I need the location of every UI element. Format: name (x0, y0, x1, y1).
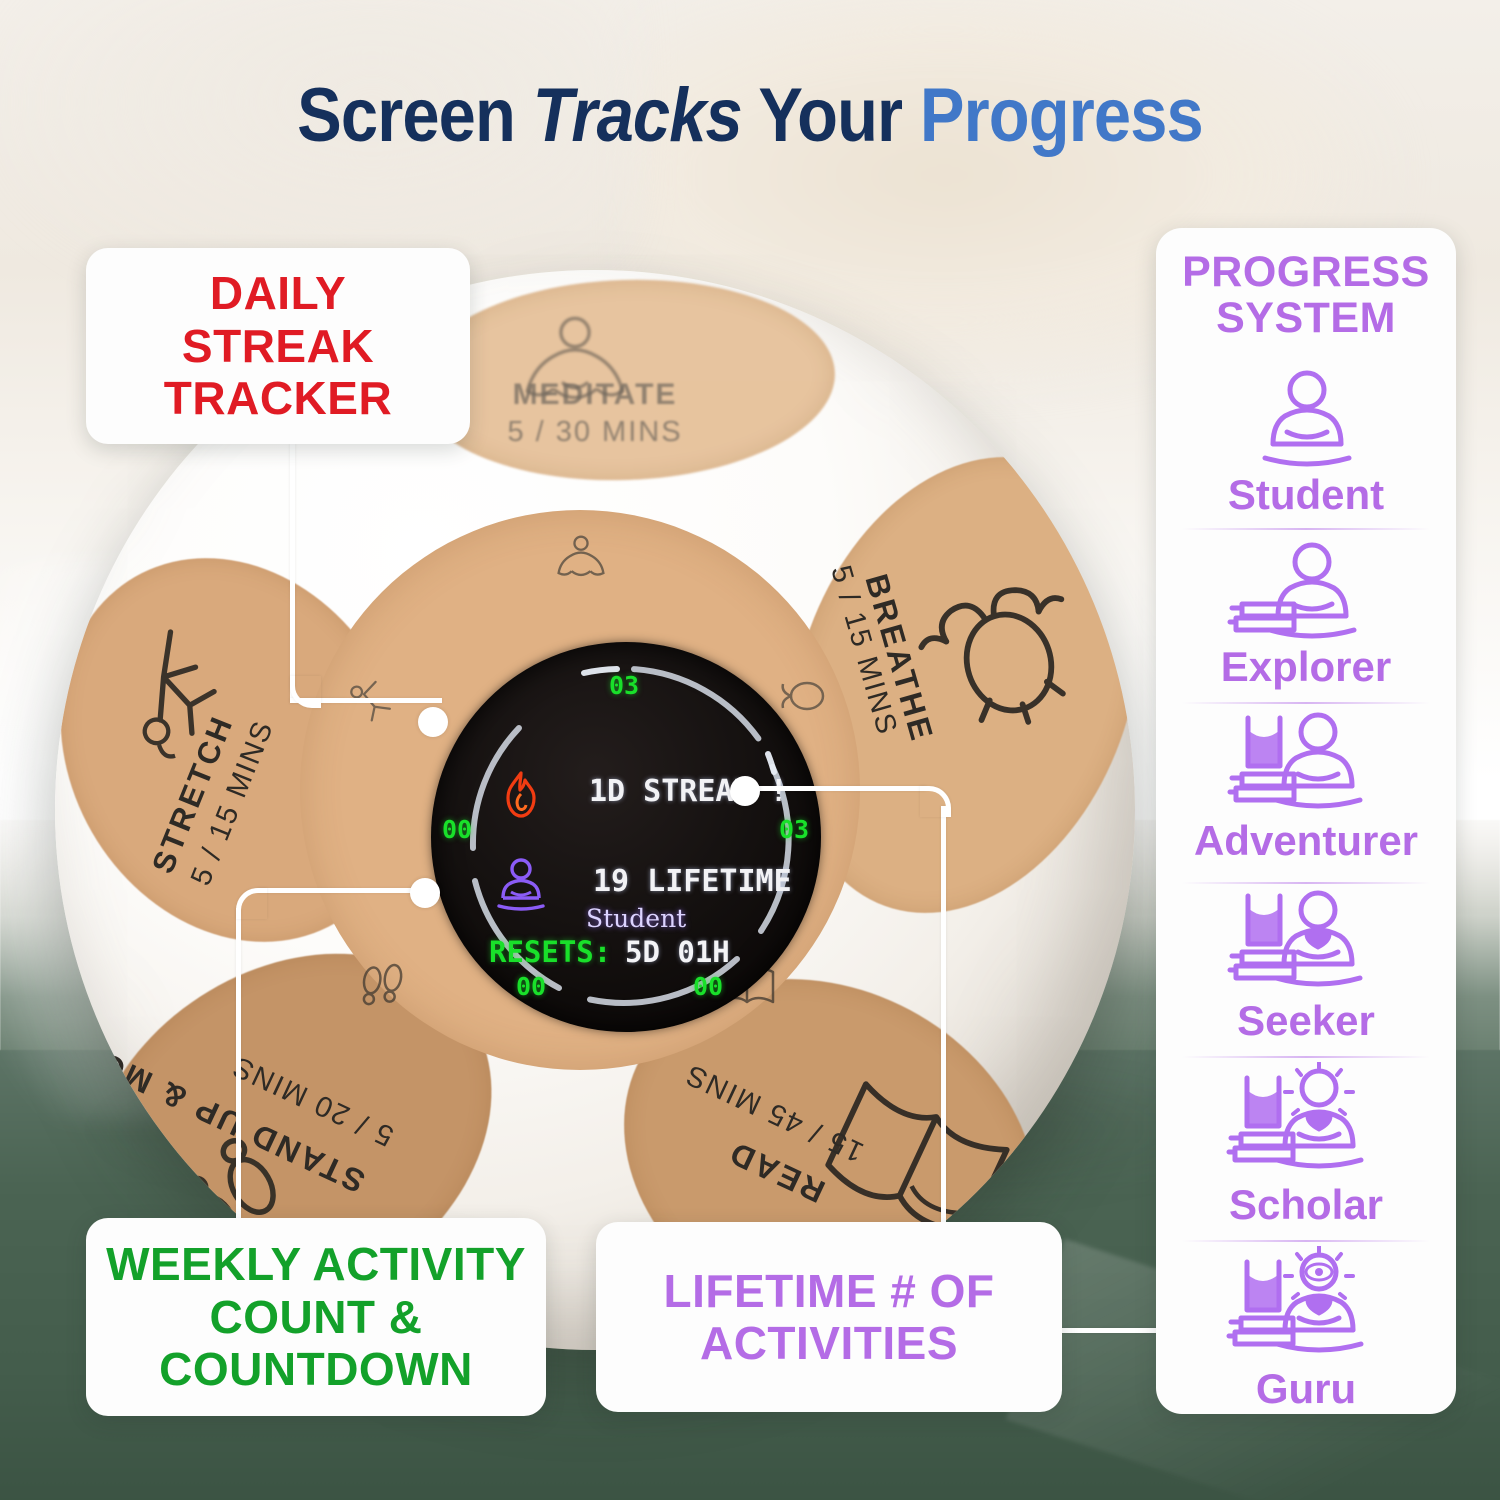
progress-system-title: PROGRESS SYSTEM (1156, 250, 1456, 341)
title-part-progress: Progress (920, 73, 1203, 158)
lifetime-text: 19 LIFETIME (593, 864, 792, 899)
progress-level-explorer[interactable]: Explorer (1156, 540, 1456, 688)
connector-weekly-dot (410, 878, 440, 908)
weekly-counter-top: 03 (609, 671, 639, 700)
progress-level-student[interactable]: Student (1156, 368, 1456, 516)
progress-level-scholar[interactable]: Scholar (1156, 1062, 1456, 1226)
callout-lifetime-activities[interactable]: LIFETIME # OF ACTIVITIES (596, 1222, 1062, 1412)
progress-level-scholar-label: Scholar (1156, 1184, 1456, 1226)
progress-level-adventurer-label: Adventurer (1156, 820, 1456, 862)
connector-lifetime-vertical (941, 806, 946, 1224)
resets-label: RESETS: (489, 935, 611, 969)
progress-level-seeker-label: Seeker (1156, 1000, 1456, 1042)
progress-system-title-line1: PROGRESS (1156, 250, 1456, 296)
connector-streak-dot (418, 707, 448, 737)
progress-level-seeker[interactable]: Seeker (1156, 890, 1456, 1042)
title-part-1: Screen (297, 73, 532, 158)
level-scholar-icon (1201, 1062, 1411, 1186)
connector-panel-horizontal (1060, 1328, 1160, 1333)
flame-icon (499, 770, 543, 820)
weekly-progress-arc (431, 642, 821, 1032)
page-title: Screen Tracks Your Progress (90, 72, 1410, 159)
weekly-counter-left: 00 (442, 815, 472, 844)
callout-daily-streak-label: DAILY STREAK TRACKER (164, 267, 392, 424)
progress-divider-4 (1182, 1056, 1430, 1058)
connector-streak-vertical (290, 443, 295, 703)
level-guru-icon (1201, 1246, 1411, 1370)
progress-divider-1 (1182, 528, 1430, 530)
weekly-counter-bottom-right: 00 (693, 972, 723, 1001)
meditating-person-icon (493, 858, 549, 916)
title-part-tracks: Tracks (533, 73, 742, 158)
level-student-icon (1231, 368, 1381, 476)
progress-divider-2 (1182, 702, 1430, 704)
progress-system-panel[interactable]: PROGRESS SYSTEM Student (1156, 228, 1456, 1414)
progress-level-explorer-label: Explorer (1156, 646, 1456, 688)
progress-level-guru[interactable]: Guru (1156, 1246, 1456, 1410)
level-explorer-icon (1216, 540, 1396, 648)
rank-text: Student (586, 904, 686, 933)
callout-weekly-activity-label: WEEKLY ACTIVITY COUNT & COUNTDOWN (106, 1238, 526, 1395)
callout-weekly-activity[interactable]: WEEKLY ACTIVITY COUNT & COUNTDOWN (86, 1218, 546, 1416)
connector-lifetime-dot (730, 776, 760, 806)
progress-divider-3 (1182, 882, 1430, 884)
progress-divider-5 (1182, 1240, 1430, 1242)
level-adventurer-icon (1206, 710, 1406, 822)
weekly-counter-right: 03 (779, 815, 809, 844)
title-part-3: Your (742, 73, 920, 158)
device-screen[interactable]: 03 00 03 00 00 1D STREAK ! 19 LIFETIME S… (431, 642, 821, 1032)
resets-value: 5D 01H (625, 935, 730, 969)
progress-level-guru-label: Guru (1156, 1368, 1456, 1410)
level-seeker-icon (1206, 890, 1406, 1002)
callout-lifetime-activities-label: LIFETIME # OF ACTIVITIES (663, 1265, 994, 1370)
connector-weekly-vertical (236, 908, 241, 1220)
bezel-meditate-icon (553, 532, 609, 588)
bezel-footprints-icon (351, 956, 412, 1020)
weekly-counter-bottom-left: 00 (516, 972, 546, 1001)
infographic-canvas: MEDITATE 5 / 30 MINS STRETCH 5 / 15 MINS… (0, 0, 1500, 1500)
progress-level-student-label: Student (1156, 474, 1456, 516)
progress-system-title-line2: SYSTEM (1156, 296, 1456, 342)
connector-lifetime-horizontal (750, 786, 926, 791)
callout-daily-streak-tracker[interactable]: DAILY STREAK TRACKER (86, 248, 470, 444)
progress-level-adventurer[interactable]: Adventurer (1156, 710, 1456, 862)
